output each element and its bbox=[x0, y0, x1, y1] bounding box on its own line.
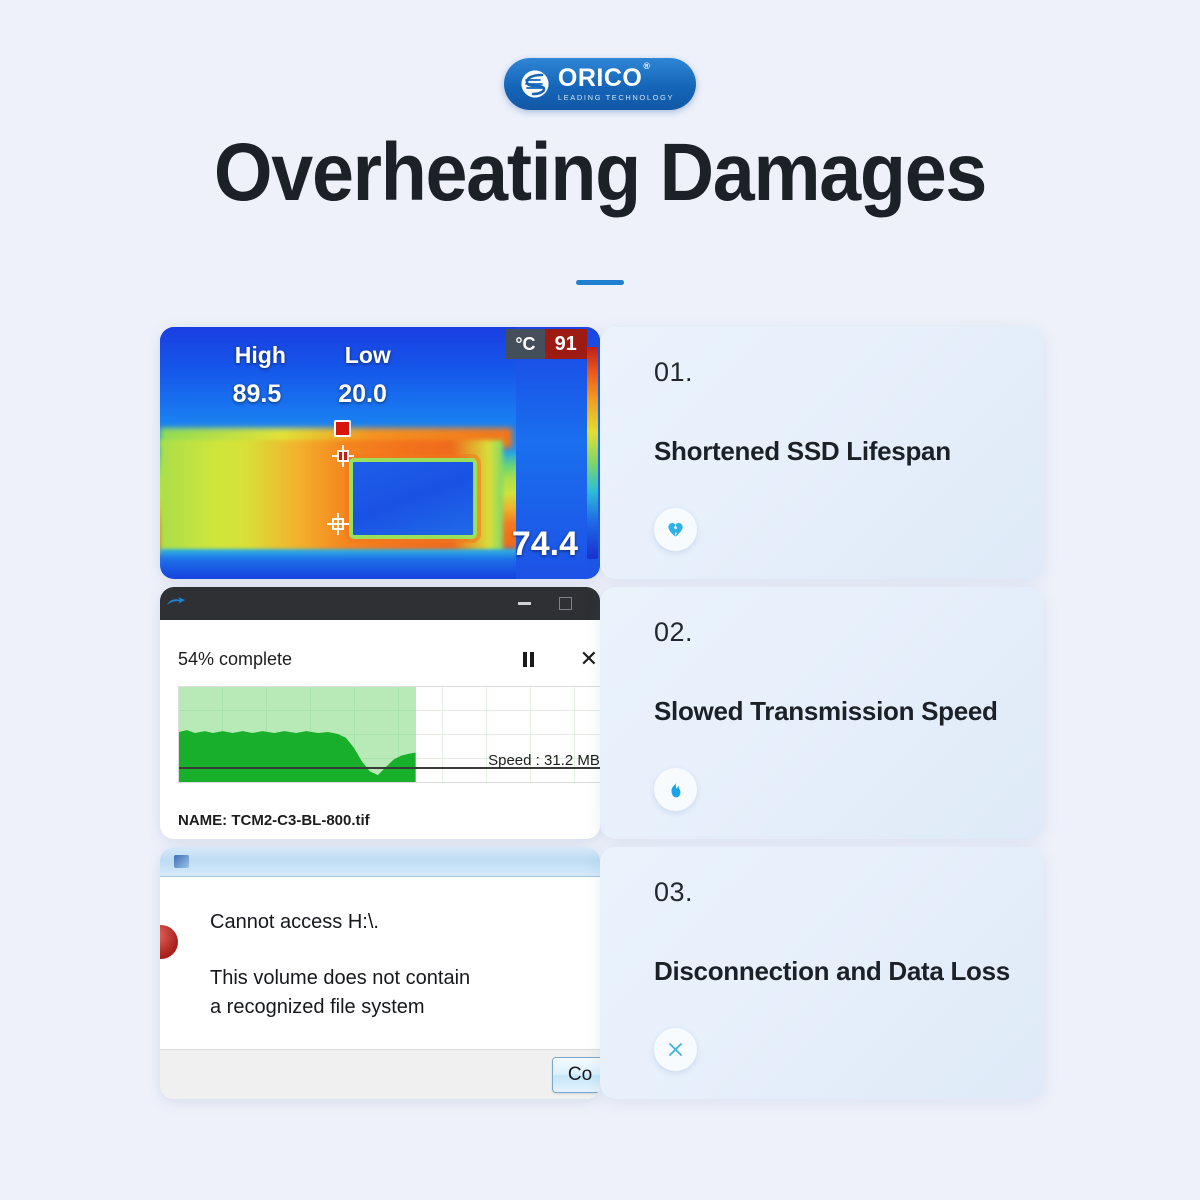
crosshair-cold-icon bbox=[327, 513, 349, 535]
transfer-status-row: 54% complete ✕ bbox=[160, 642, 600, 676]
error-heading: Cannot access H:\. bbox=[210, 911, 600, 934]
card-number: 01. bbox=[654, 357, 1016, 388]
error-footer: Co bbox=[160, 1049, 600, 1099]
row-03: Cannot access H:\. This volume does not … bbox=[160, 847, 1044, 1107]
thermal-image: High Low 89.5 20.0 74.4 °C 91 bbox=[160, 327, 600, 579]
transfer-controls[interactable]: ✕ bbox=[523, 648, 586, 670]
file-transfer-window: 54% complete ✕ Speed bbox=[160, 587, 600, 839]
thermal-high-label: High bbox=[235, 342, 286, 369]
error-circle-icon bbox=[160, 925, 178, 959]
transfer-speed-text: Speed : 31.2 MB/秒 bbox=[488, 749, 600, 770]
info-card-03[interactable]: 03. Disconnection and Data Loss bbox=[600, 847, 1044, 1099]
brand-logo: ORICO® LEADING TECHNOLOGY bbox=[0, 58, 1200, 110]
error-message-line-2: a recognized file system bbox=[210, 993, 600, 1022]
thermal-high-value: 89.5 bbox=[233, 380, 282, 409]
logo-text-block: ORICO® LEADING TECHNOLOGY bbox=[558, 66, 674, 102]
transfer-body: 54% complete ✕ Speed bbox=[160, 620, 600, 839]
dialog-app-icon bbox=[174, 855, 189, 868]
transfer-dialog-panel: 54% complete ✕ Speed bbox=[160, 587, 600, 839]
temperature-scale-bar bbox=[587, 347, 598, 559]
transfer-app-icon bbox=[166, 596, 186, 612]
error-continue-button[interactable]: Co bbox=[552, 1057, 600, 1093]
thermal-spot-value: 74.4 bbox=[512, 525, 578, 564]
row-02: 54% complete ✕ Speed bbox=[160, 587, 1044, 847]
transfer-window-buttons[interactable] bbox=[518, 597, 594, 610]
thermal-unit-label: °C bbox=[506, 329, 544, 359]
card-number: 03. bbox=[654, 877, 1016, 908]
hotspot-marker-icon bbox=[334, 420, 351, 437]
transfer-file-name: NAME: TCM2-C3-BL-800.tif bbox=[178, 812, 370, 829]
poster-root: ORICO® LEADING TECHNOLOGY Overheating Da… bbox=[0, 0, 1200, 1200]
logo-pill: ORICO® LEADING TECHNOLOGY bbox=[504, 58, 696, 110]
close-x-icon bbox=[654, 1028, 697, 1071]
error-message-line-1: This volume does not contain bbox=[210, 964, 600, 993]
title-divider bbox=[576, 280, 624, 285]
transfer-speed-chart: Speed : 31.2 MB/秒 bbox=[178, 686, 600, 783]
error-body: Cannot access H:\. This volume does not … bbox=[160, 877, 600, 1049]
crosshair-hot-icon bbox=[332, 445, 354, 467]
flame-icon bbox=[654, 768, 697, 811]
content-grid: High Low 89.5 20.0 74.4 °C 91 01. Shorte… bbox=[160, 327, 1044, 1107]
thermal-low-value: 20.0 bbox=[338, 380, 387, 409]
card-label: Shortened SSD Lifespan bbox=[654, 436, 1016, 467]
globe-icon bbox=[520, 69, 550, 99]
registered-trademark-icon: ® bbox=[643, 61, 650, 71]
card-label: Disconnection and Data Loss bbox=[654, 956, 1016, 987]
error-dialog-panel: Cannot access H:\. This volume does not … bbox=[160, 847, 600, 1099]
pause-icon[interactable] bbox=[523, 652, 534, 667]
transfer-percent-text: 54% complete bbox=[178, 649, 292, 670]
thermal-image-panel: High Low 89.5 20.0 74.4 °C 91 bbox=[160, 327, 600, 579]
info-card-02[interactable]: 02. Slowed Transmission Speed bbox=[600, 587, 1044, 839]
thermal-scale-readout: °C 91 bbox=[506, 329, 586, 359]
page-title: Overheating Damages bbox=[48, 126, 1152, 220]
error-titlebar bbox=[160, 847, 600, 877]
logo-wordmark: ORICO® bbox=[558, 66, 650, 91]
logo-tagline: LEADING TECHNOLOGY bbox=[558, 94, 674, 102]
thermal-device-outline bbox=[349, 458, 477, 539]
info-card-01[interactable]: 01. Shortened SSD Lifespan bbox=[600, 327, 1044, 579]
transfer-titlebar bbox=[160, 587, 600, 620]
broken-heart-icon bbox=[654, 508, 697, 551]
thermal-low-label: Low bbox=[345, 342, 391, 369]
minimize-icon[interactable] bbox=[518, 602, 531, 605]
row-01: High Low 89.5 20.0 74.4 °C 91 01. Shorte… bbox=[160, 327, 1044, 587]
thermal-scale-max: 91 bbox=[545, 329, 587, 359]
card-number: 02. bbox=[654, 617, 1016, 648]
close-icon[interactable]: ✕ bbox=[580, 648, 598, 670]
card-label: Slowed Transmission Speed bbox=[654, 696, 1016, 727]
maximize-icon[interactable] bbox=[559, 597, 572, 610]
windows-error-dialog: Cannot access H:\. This volume does not … bbox=[160, 847, 600, 1099]
logo-name-text: ORICO bbox=[558, 64, 642, 92]
